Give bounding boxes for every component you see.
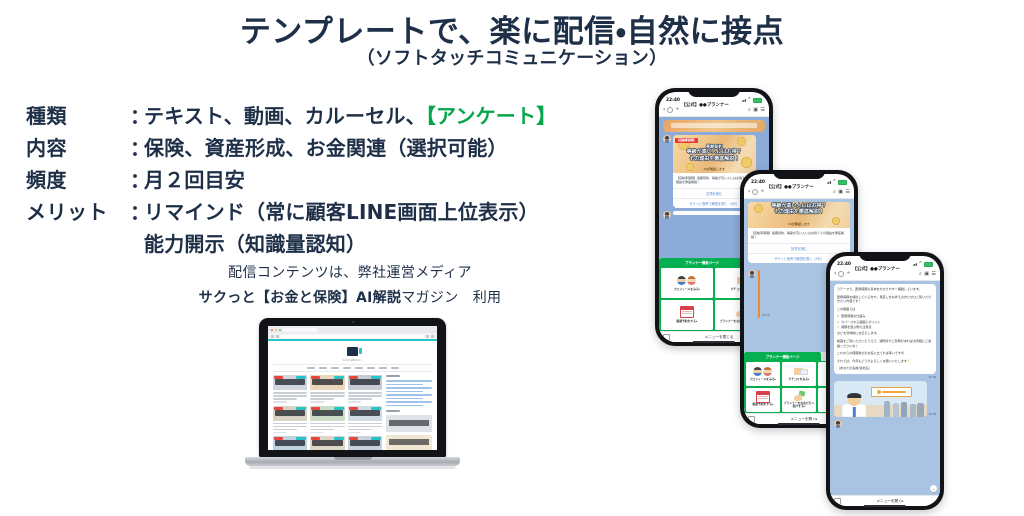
spec-colon: ： [130, 164, 144, 193]
caption-line-1: 配信コンテンツは、弊社運営メディア [150, 262, 550, 282]
site-nav[interactable] [273, 364, 432, 372]
bullet-item: ✓保険を選ぶ際の注意点 [837, 325, 933, 329]
gallery-icon[interactable]: ▣ [924, 272, 929, 277]
avatar[interactable] [834, 420, 842, 428]
website-content: おかねと保険のはなし [268, 341, 437, 450]
avatar[interactable] [748, 270, 756, 278]
caption-line-2: サクっと【お金と保険】AI解説マガジン 利用 [150, 287, 550, 307]
nav-item[interactable] [379, 367, 387, 369]
laptop-caption: 配信コンテンツは、弊社運営メディア サクっと【お金と保険】AI解説マガジン 利用 [150, 262, 550, 307]
keyboard-icon[interactable] [663, 334, 670, 341]
keyboard-icon[interactable] [834, 498, 841, 505]
laptop-screen: おかねと保険のはなし [268, 326, 437, 450]
phone-notch [773, 170, 825, 179]
rich-menu-tile-booking[interactable]: 相談予約をする▸ [661, 300, 714, 330]
chat-area-3[interactable]: うテーマで、医療保険の基本をわかりやすく解説しています。 医療保険を検討している… [830, 281, 940, 495]
article-thumbnail [348, 436, 382, 450]
article-image-subtext: AIが解説します [748, 222, 850, 226]
nav-item[interactable] [391, 367, 399, 369]
article-tag [296, 407, 306, 410]
search-icon[interactable]: ⌕ [919, 272, 922, 277]
text-paragraph-7: それでは、今月もどうぞよろしくお願いいたします✨ [837, 359, 933, 364]
article-badge [349, 407, 358, 410]
nav-item[interactable] [331, 367, 339, 369]
calendar-icon [680, 306, 694, 319]
star-icon[interactable]: ★ [675, 108, 679, 113]
text-paragraph-5: 動画をご覧いただいたうえで、疑問点やご質問があればお気軽にご連絡くださいね！ [837, 339, 933, 348]
rich-menu-tab-active[interactable]: プランナー機能ページ [744, 352, 821, 361]
article-thumbnail [273, 406, 307, 421]
article-badge [274, 376, 283, 379]
spec-value: テキスト、動画、カルーセル、【アンケート】 [144, 100, 556, 129]
article-tag [296, 437, 306, 440]
text-paragraph-1: うテーマで、医療保険の基本をわかりやすく解説しています。 [837, 287, 933, 292]
browser-tab[interactable] [283, 328, 317, 332]
previous-message-crop [663, 120, 765, 132]
read-article-button[interactable]: 記事を読む [748, 243, 850, 253]
text-message-bubble[interactable]: うテーマで、医療保険の基本をわかりやすく解説しています。 医療保険を検討している… [834, 284, 936, 374]
play-button-icon[interactable] [758, 288, 760, 302]
article-thumbnail [310, 406, 344, 421]
browser-close-dot[interactable] [271, 329, 273, 331]
sidebar-thumbnail-2[interactable] [386, 435, 432, 450]
wifi-icon: ⌃ [832, 180, 836, 185]
whiteboard-graphic [759, 277, 760, 303]
article-headline: 長期契約 等級が高い人にはお得？ その理由を徹底解説！ [673, 144, 756, 162]
spec-row-content: 内容 ： 保険、資産形成、お金関連（選択可能） [26, 132, 556, 161]
nav-item[interactable] [355, 367, 363, 369]
rich-menu-tile-profile[interactable]: プロフィールをみる▸ [746, 362, 781, 386]
keyboard-icon[interactable] [748, 416, 755, 423]
phone-notch [688, 88, 740, 97]
battery-icon [924, 262, 933, 267]
article-card[interactable] [310, 375, 344, 403]
site-logo-subtitle: おかねと保険のはなし [273, 359, 432, 362]
url-input[interactable] [281, 335, 424, 338]
rich-menu-tab-active[interactable]: プランナー機能ページ [659, 258, 745, 267]
line-chat-header: ‹ ★ 【公式】●●プランナー LINE公式アカウント ⌕ ▣ ☰ [659, 104, 769, 117]
sidebar-heading-2 [386, 410, 400, 412]
article-card-body: 【自動車保険】長期契約、等級が高い人にはお得？その理由を徹底解説！ [748, 228, 850, 240]
tile-label: プランナーをお友だちへ紹介する▸ [783, 402, 816, 409]
article-card[interactable] [310, 436, 344, 450]
tile-label: 相談予約をする▸ [752, 403, 773, 406]
rich-menu-tile-share[interactable]: プランナーをお友だちへ紹介する▸ [782, 388, 817, 412]
photo-message[interactable] [834, 381, 927, 417]
article-date [273, 401, 287, 403]
spec-value: 能力開示（知識量認知） [144, 228, 366, 257]
review-icon [794, 367, 803, 377]
article-badge [311, 437, 320, 440]
line-chat-header: ‹ ★ 【公式】●●プランナー LINE公式アカウント ⌕ ▣ ☰ [744, 186, 854, 199]
article-card[interactable] [348, 406, 382, 434]
back-icon[interactable]: ‹ [834, 271, 836, 277]
sidebar-heading [386, 375, 400, 377]
nav-item[interactable] [367, 367, 375, 369]
notification-icon[interactable] [667, 107, 673, 113]
article-card-image: 【自動車保険】 長期契約 等級が高い人にはお得？ その理由を徹底解説！ AIが解… [673, 135, 756, 173]
article-thumbnail [310, 436, 344, 450]
gallery-icon[interactable]: ▣ [838, 190, 843, 195]
spec-row-type: 種類 ： テキスト、動画、カルーセル、【アンケート】 [26, 100, 556, 129]
spec-value: 保険、資産形成、お金関連（選択可能） [144, 132, 508, 161]
video-message-bubble[interactable] [758, 270, 760, 318]
spec-value-highlight: 【アンケート】 [426, 104, 557, 128]
header-actions: ⌕ ▣ ☰ [748, 108, 765, 113]
site-logo[interactable] [273, 345, 432, 358]
forward-arrow-icon[interactable] [276, 335, 279, 338]
menu-toggle-label[interactable]: メニューを開く▸ [844, 499, 936, 504]
article-excerpt [310, 392, 344, 400]
article-date [310, 432, 324, 434]
extension-icon[interactable] [426, 335, 429, 338]
star-icon[interactable]: ★ [846, 272, 850, 277]
spec-row-frequency: 頻度 ： 月２回目安 [26, 164, 556, 193]
article-headline: 等級が高い人にはお得？ その理由を徹底解説！ [748, 203, 850, 216]
spec-row-merit-2: メリット ： 能力開示（知識量認知） [26, 228, 556, 257]
nav-item[interactable] [319, 367, 327, 369]
phone-notch [859, 252, 911, 261]
menu-icon[interactable]: ☰ [846, 190, 850, 195]
advisor-figure [842, 393, 866, 417]
article-date [348, 432, 362, 434]
status-time: 22:40 [751, 180, 765, 185]
article-tag [296, 376, 306, 379]
article-date [348, 401, 362, 403]
text-paragraph-2: 医療保険を検討している方や、見直しをお考えの方にぜひご覧いただきたい内容です！ [837, 295, 933, 304]
bullet-item: ✓カバーされる範囲とポイント [837, 320, 933, 324]
spec-value-text: テキスト、動画、カルーセル、 [144, 104, 426, 128]
check-icon: ✓ [837, 314, 840, 318]
laptop-base-notch [334, 457, 372, 460]
tile-label: 相談予約をする▸ [676, 320, 697, 323]
article-category-tag: 【自動車保険】 [675, 138, 698, 143]
browser-minimize-dot[interactable] [275, 329, 277, 331]
spec-label: 内容 [26, 132, 130, 161]
webcam-icon [352, 321, 354, 323]
article-card[interactable] [348, 436, 382, 450]
message-row-partial [834, 420, 936, 428]
avatar[interactable] [663, 135, 671, 143]
article-excerpt [273, 423, 307, 431]
article-badge [274, 407, 283, 410]
sidebar-links[interactable] [386, 380, 432, 406]
two-faces-icon [753, 367, 772, 377]
caption-media-name: サクっと【お金と保険】AI解説 [199, 290, 402, 306]
chat-title: 【公式】●●プランナー [682, 103, 729, 108]
home-indicator [864, 505, 906, 507]
spec-label: 種類 [26, 100, 130, 129]
nav-item[interactable] [343, 367, 351, 369]
gallery-icon[interactable]: ▣ [753, 108, 758, 113]
sidebar-thumbnail[interactable] [386, 415, 432, 432]
notification-icon[interactable] [752, 189, 758, 195]
article-tag [334, 407, 344, 410]
chat-title: 【公式】●●プランナー [853, 267, 900, 272]
article-tag [371, 376, 381, 379]
back-icon[interactable]: ‹ [748, 189, 750, 195]
spec-colon: ： [130, 196, 144, 225]
spec-row-merit: メリット ： リマインド（常に顧客LINE画面上位表示） [26, 196, 556, 225]
star-icon[interactable]: ★ [760, 190, 764, 195]
bullet-label: 保険を選ぶ際の注意点 [841, 325, 871, 329]
text-signature: ［あなたの名前/会社名］ [837, 366, 933, 371]
article-card[interactable] [273, 436, 307, 450]
battery-icon [753, 98, 762, 103]
article-card[interactable] [310, 406, 344, 434]
spec-colon: ： [130, 100, 144, 129]
chat-title: 【公式】●●プランナー [767, 185, 814, 190]
page-subtitle: （ソフトタッチコミュニケーション） [0, 44, 1024, 70]
menu-icon[interactable]: ☰ [932, 272, 936, 277]
article-thumbnail [348, 406, 382, 421]
nav-item[interactable] [307, 367, 315, 369]
battery-icon [838, 180, 847, 185]
home-indicator [778, 423, 820, 425]
article-badge [274, 437, 283, 440]
text-paragraph-4: などを具体的にお伝えします。 [837, 331, 933, 336]
scroll-to-bottom-icon[interactable]: ⌄ [930, 485, 937, 492]
tile-label: プロフィールをみる▸ [750, 378, 777, 381]
article-description: 【自動車保険】長期契約、等級が高い人にはお得？その理由を徹底解説！ [751, 231, 847, 240]
article-card[interactable] [348, 375, 382, 403]
message-time: 22:39 [762, 314, 769, 318]
rich-menu-tile-reviews[interactable]: クチコミをみる▸ [782, 362, 817, 386]
article-image-subtext: AIが解説します [673, 167, 756, 171]
article-tag [334, 376, 344, 379]
tile-label: プロフィールをみる▸ [674, 288, 701, 291]
message-row-photo: 22:39 [834, 381, 936, 417]
spec-value: 月２回目安 [144, 164, 245, 193]
article-thumbnail [273, 375, 307, 390]
back-arrow-icon[interactable] [271, 335, 274, 338]
laptop-lid: おかねと保険のはなし [259, 318, 446, 458]
search-icon[interactable]: ⌕ [748, 108, 751, 113]
laptop-foot [249, 466, 456, 469]
consultation-sign [871, 387, 912, 397]
article-badge [349, 437, 358, 440]
two-faces-icon [677, 274, 696, 287]
message-time: 22:39 [834, 376, 936, 379]
bullet-item: ✓医療保険の仕組み [837, 314, 933, 318]
tile-label: クチコミをみる▸ [789, 378, 810, 381]
article-excerpt [348, 392, 382, 400]
spec-label: 頻度 [26, 164, 130, 193]
bullet-label: 医療保険の仕組み [841, 314, 865, 318]
header-actions: ⌕ ▣ ☰ [833, 190, 850, 195]
profile-icon[interactable] [431, 335, 434, 338]
article-thumbnail [273, 436, 307, 450]
notification-icon[interactable] [838, 271, 844, 277]
browser-tab-bar [268, 326, 437, 333]
text-paragraph-3: この動画では [837, 307, 933, 312]
check-icon: ✓ [837, 320, 840, 324]
article-thumbnail [310, 375, 344, 390]
line-chat-header: ‹ ★ 【公式】●●プランナー LINE公式アカウント ⌕ ▣ ☰ [830, 268, 940, 281]
avatar[interactable] [663, 211, 671, 219]
article-card[interactable] [273, 375, 307, 403]
article-grid [273, 375, 382, 450]
article-tag [371, 407, 381, 410]
phone-screen-3: 22:40 ⌃ ‹ ★ 【公式】●●プランナー LINE公式アカウント ⌕ ▣ [830, 256, 940, 506]
message-time: 22:39 [929, 413, 936, 417]
article-badge [349, 376, 358, 379]
wifi-icon: ⌃ [918, 262, 922, 267]
article-date [273, 432, 287, 434]
slide-root: テンプレートで、楽に配信・自然に接点 （ソフトタッチコミュニケーション） 種類 … [0, 0, 1024, 516]
article-excerpt [348, 423, 382, 431]
site-body [273, 375, 432, 450]
rich-menu-tile-profile[interactable]: プロフィールをみる▸ [661, 268, 714, 298]
article-tag [334, 437, 344, 440]
article-excerpt [310, 423, 344, 431]
article-badge [311, 376, 320, 379]
laptop-mockup: おかねと保険のはなし [245, 318, 460, 488]
phone-mockup-3: 22:40 ⌃ ‹ ★ 【公式】●●プランナー LINE公式アカウント ⌕ ▣ [826, 252, 944, 510]
rich-menu-tile-booking[interactable]: 相談予約をする▸ [746, 388, 781, 412]
search-icon[interactable]: ⌕ [833, 190, 836, 195]
text-paragraph-6: これからの保険選びのお役に立てれば幸いです😊 [837, 351, 933, 356]
caption-usage: 利用 [473, 290, 502, 306]
article-badge [311, 407, 320, 410]
logo-mark-icon [347, 347, 358, 356]
hand-share-icon [793, 391, 805, 401]
menu-icon[interactable]: ☰ [761, 108, 765, 113]
site-sidebar [386, 375, 432, 450]
status-time: 22:40 [666, 98, 680, 103]
article-card[interactable] [273, 406, 307, 434]
header-actions: ⌕ ▣ ☰ [919, 272, 936, 277]
bullet-label: カバーされる範囲とポイント [841, 320, 881, 324]
background-people [884, 401, 923, 417]
calendar-icon [756, 392, 770, 402]
wifi-icon: ⌃ [747, 98, 751, 103]
caption-media-suffix: マガジン [401, 290, 458, 306]
home-indicator [693, 341, 735, 343]
article-thumbnail [348, 375, 382, 390]
article-card-bubble[interactable]: 等級が高い人にはお得？ その理由を徹底解説！ AIが解説します 【自動車保険】長… [748, 202, 850, 263]
spec-colon: ： [130, 132, 144, 161]
check-icon: ✓ [837, 325, 840, 329]
article-card-image: 等級が高い人にはお得？ その理由を徹底解説！ AIが解説します [748, 202, 850, 228]
spec-label: メリット [26, 196, 130, 225]
article-date [310, 401, 324, 403]
article-excerpt [273, 392, 307, 400]
spec-list: 種類 ： テキスト、動画、カルーセル、【アンケート】 内容 ： 保険、資産形成、… [26, 100, 556, 260]
back-icon[interactable]: ‹ [663, 107, 665, 113]
spec-value: リマインド（常に顧客LINE画面上位表示） [144, 196, 539, 225]
article-tag [371, 437, 381, 440]
browser-maximize-dot[interactable] [279, 329, 281, 331]
status-time: 22:40 [837, 262, 851, 267]
